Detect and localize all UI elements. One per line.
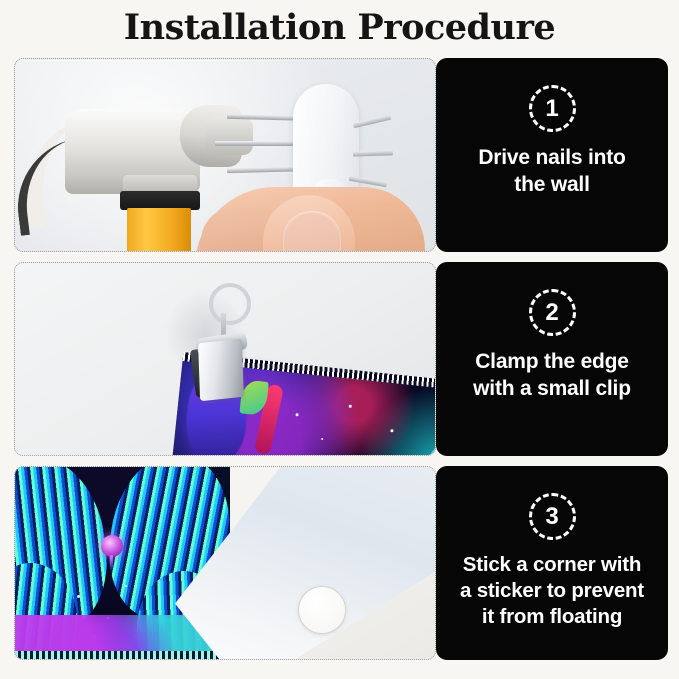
step-row-3: 3 Stick a corner with a sticker to preve… — [14, 466, 668, 660]
star-dot — [390, 429, 393, 432]
hammer-icon — [15, 87, 255, 217]
star-dot — [125, 585, 127, 587]
tapestry-stitched-edge — [15, 651, 230, 659]
step-3-badge: 3 — [529, 493, 576, 540]
step-2-photo-inner — [15, 263, 435, 455]
step-3-text-line-1: Stick a corner with — [460, 552, 644, 578]
step-1-photo — [14, 58, 436, 252]
step-row-1: 1 Drive nails into the wall — [14, 58, 668, 252]
page-title: Installation Procedure — [0, 6, 679, 50]
step-3-number: 3 — [545, 505, 558, 529]
step-1-number: 1 — [545, 97, 558, 121]
step-1-card: 1 Drive nails into the wall — [436, 58, 668, 252]
step-2-number: 2 — [545, 301, 558, 325]
step-2-badge: 2 — [529, 289, 576, 336]
star-dot — [321, 438, 323, 440]
step-1-photo-inner — [15, 59, 435, 251]
step-3-text: Stick a corner with a sticker to prevent… — [450, 552, 654, 630]
binder-clip — [191, 283, 255, 399]
teal-mushroom — [421, 443, 435, 455]
step-2-photo — [14, 262, 436, 456]
step-2-text-line-1: Clamp the edge — [473, 348, 631, 375]
star-dot — [349, 405, 352, 408]
step-3-card: 3 Stick a corner with a sticker to preve… — [436, 466, 668, 660]
clip-ring — [209, 283, 251, 325]
step-3-text-line-2: a sticker to prevent — [460, 578, 644, 604]
step-1-text: Drive nails into the wall — [468, 144, 635, 198]
hammer-handle — [127, 208, 191, 251]
star-dot — [295, 413, 298, 416]
step-row-2: 2 Clamp the edge with a small clip — [14, 262, 668, 456]
step-2-text: Clamp the edge with a small clip — [463, 348, 641, 402]
hammer-face-strike — [205, 117, 253, 155]
glowing-orb — [101, 535, 123, 557]
step-3-text-line-3: it from floating — [460, 604, 644, 630]
star-dot — [77, 595, 80, 598]
installation-procedure-sheet: Installation Procedure — [0, 0, 679, 679]
step-1-text-line-1: Drive nails into — [478, 144, 625, 171]
clip-body — [198, 339, 244, 402]
step-1-text-line-2: the wall — [478, 171, 625, 198]
step-1-badge: 1 — [529, 85, 576, 132]
step-2-card: 2 Clamp the edge with a small clip — [436, 262, 668, 456]
step-3-photo-inner — [15, 467, 435, 659]
step-2-text-line-2: with a small clip — [473, 375, 631, 402]
adhesive-sticker — [298, 586, 346, 634]
step-3-photo — [14, 466, 436, 660]
